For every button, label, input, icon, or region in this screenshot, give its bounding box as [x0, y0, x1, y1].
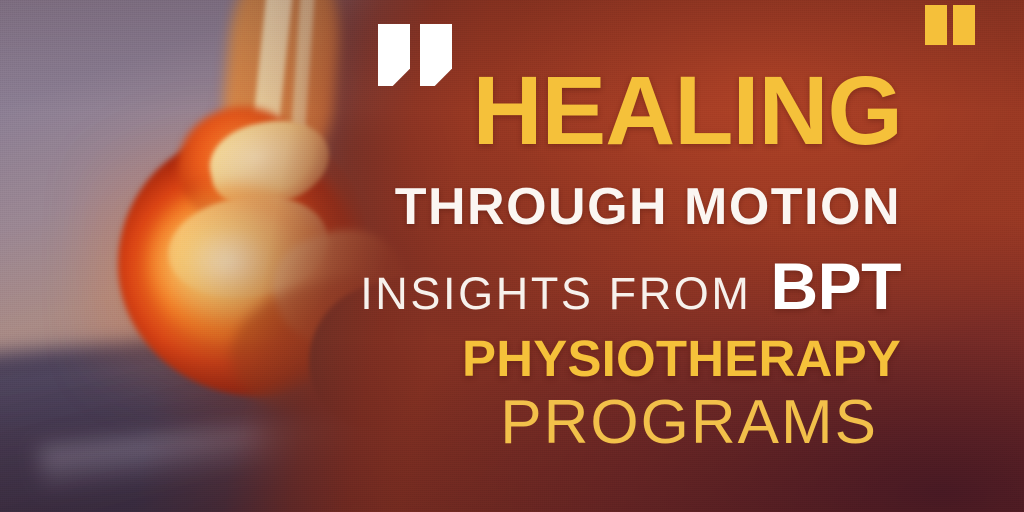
close-quote-icon: [925, 5, 977, 45]
headline-line-physiotherapy: PHYSIOTHERAPY: [462, 333, 901, 384]
insights-from-text: INSIGHTS FROM: [360, 271, 751, 316]
headline-line-insights-from-bpt: INSIGHTS FROM BPT: [360, 253, 901, 319]
open-quote-icon: [378, 24, 456, 86]
close-quote-mark-left: [925, 5, 947, 45]
headline-line-healing: HEALING: [473, 62, 903, 159]
promo-banner: HEALING THROUGH MOTION INSIGHTS FROM BPT…: [0, 0, 1024, 512]
open-quote-mark-right: [420, 24, 452, 86]
headline-line-programs: PROGRAMS: [500, 392, 878, 454]
headline-line-through-motion: THROUGH MOTION: [395, 181, 901, 233]
bpt-acronym: BPT: [771, 253, 902, 319]
open-quote-mark-left: [378, 24, 410, 86]
quote-text-block: HEALING THROUGH MOTION INSIGHTS FROM BPT…: [374, 0, 974, 512]
close-quote-mark-right: [953, 5, 975, 45]
